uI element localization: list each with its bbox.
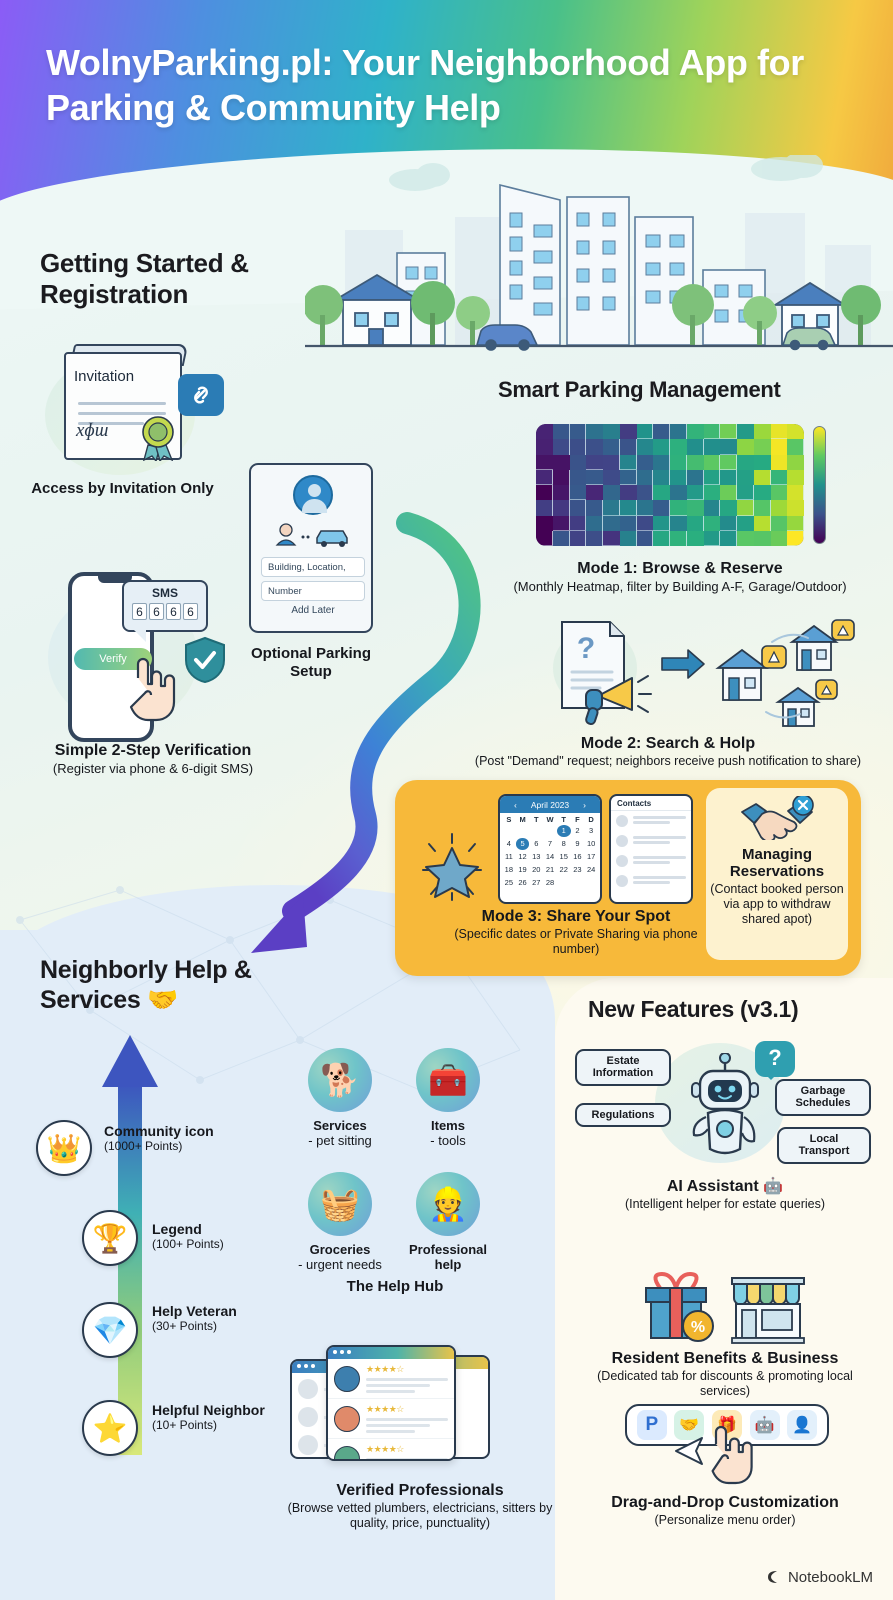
house-notify-icon: [778, 680, 837, 726]
professional-row[interactable]: ★★★★☆: [328, 1359, 454, 1399]
calendar-dow: M: [516, 815, 530, 824]
arrow-right-icon: [662, 650, 704, 678]
heatmap-cell[interactable]: [620, 455, 637, 470]
badge-community-icon: 👑: [36, 1120, 92, 1176]
heatmap-cell[interactable]: [737, 516, 754, 531]
heatmap-cell[interactable]: [737, 424, 754, 439]
heatmap-cell[interactable]: [653, 500, 670, 515]
calendar-day[interactable]: 24: [584, 864, 598, 876]
calendar-day[interactable]: 23: [571, 864, 585, 876]
heatmap-cell[interactable]: [620, 485, 637, 500]
heatmap-cell[interactable]: [771, 439, 788, 454]
heatmap-cell[interactable]: [553, 516, 570, 531]
heatmap-cell[interactable]: [570, 470, 587, 485]
ai-bubble-local-transport[interactable]: Local Transport: [777, 1127, 871, 1164]
heatmap-cell[interactable]: [771, 455, 788, 470]
ai-assistant-illustration: Estate Information Regulations Garbage S…: [575, 1035, 875, 1170]
managing-sub: (Contact booked person via app to withdr…: [710, 882, 844, 927]
heatmap-cell[interactable]: [754, 455, 771, 470]
heatmap-cell[interactable]: [704, 485, 721, 500]
heatmap-cell[interactable]: [754, 500, 771, 515]
heatmap-cell[interactable]: [670, 470, 687, 485]
heatmap-cell[interactable]: [586, 531, 603, 546]
calendar-blank: [529, 825, 543, 837]
infographic-page: WolnyParking.pl: Your Neighborhood App f…: [0, 0, 893, 1600]
heatmap-cell[interactable]: [720, 470, 737, 485]
heatmap-cell[interactable]: [553, 470, 570, 485]
badge-title: Help Veteran: [152, 1303, 272, 1319]
heatmap-cell[interactable]: [603, 470, 620, 485]
heatmap-cell[interactable]: [771, 485, 788, 500]
caption-help-hub: The Help Hub: [300, 1278, 490, 1296]
professional-meta: ★★★★☆: [366, 1364, 448, 1393]
heatmap-cell[interactable]: [720, 485, 737, 500]
badge-label-helpful: Helpful Neighbor (10+ Points): [152, 1402, 272, 1432]
heatmap-cell[interactable]: [553, 531, 570, 546]
heatmap-cell[interactable]: [787, 455, 804, 470]
house-notify-icon: [792, 620, 854, 670]
help-hub-label: Services: [313, 1118, 367, 1133]
rating-stars: ★★★★☆: [366, 1404, 448, 1415]
window-dots: [297, 1364, 315, 1368]
heatmap-cell[interactable]: [603, 531, 620, 546]
heatmap-cell[interactable]: [637, 455, 654, 470]
heatmap-cell[interactable]: [687, 455, 704, 470]
heatmap-cell[interactable]: [586, 485, 603, 500]
calendar-day[interactable]: 2: [571, 825, 585, 837]
heatmap-cell[interactable]: [637, 485, 654, 500]
heatmap-cell[interactable]: [653, 516, 670, 531]
heatmap-cell[interactable]: [586, 455, 603, 470]
heatmap-cell[interactable]: [704, 439, 721, 454]
heatmap-cell[interactable]: [536, 516, 553, 531]
calendar-blank: [543, 825, 557, 837]
calendar-day-grid[interactable]: 1234567891011121314151617181920212223242…: [500, 824, 600, 890]
caption-ai-sub: (Intelligent helper for estate queries): [570, 1197, 880, 1212]
professional-row[interactable]: ★★★★☆: [328, 1399, 454, 1439]
heatmap-cell[interactable]: [536, 424, 553, 439]
link-icon: [188, 382, 214, 408]
calendar-day[interactable]: 20: [529, 864, 543, 876]
heatmap-cell[interactable]: [670, 531, 687, 546]
contact-lines: [633, 816, 686, 826]
rating-stars: ★★★★☆: [366, 1444, 448, 1455]
caption-dragdrop-sub: (Personalize menu order): [572, 1513, 878, 1528]
sms-digit: 6: [132, 603, 147, 620]
heatmap-cell[interactable]: [536, 500, 553, 515]
badge-points: (1000+ Points): [104, 1139, 224, 1153]
calendar-header: ‹ April 2023 ›: [500, 796, 600, 813]
heatmap-cell[interactable]: [737, 455, 754, 470]
heatmap-cell[interactable]: [586, 439, 603, 454]
calendar-prev-button[interactable]: ‹: [514, 800, 517, 810]
heatmap-cell[interactable]: [737, 439, 754, 454]
heatmap-cell[interactable]: [670, 485, 687, 500]
heatmap-cell[interactable]: [754, 439, 771, 454]
heatmap-cell[interactable]: [620, 500, 637, 515]
heatmap-cell[interactable]: [704, 455, 721, 470]
caption-benefits-sub: (Dedicated tab for discounts & promoting…: [572, 1369, 878, 1399]
basket-icon: 🧺: [320, 1185, 360, 1223]
help-hub-icon-professional[interactable]: 👷: [416, 1172, 480, 1236]
calendar-day[interactable]: 1: [557, 825, 571, 837]
award-seal-icon: [138, 415, 178, 461]
sparkle-star-icon: [417, 832, 487, 902]
caption-mode2-sub: (Post "Demand" request; neighbors receiv…: [448, 754, 888, 769]
help-hub-label: Professional: [409, 1242, 487, 1257]
heatmap-cell[interactable]: [637, 470, 654, 485]
heatmap-cell[interactable]: [737, 531, 754, 546]
heatmap-cell[interactable]: [754, 516, 771, 531]
badge-title: Community icon: [104, 1123, 224, 1139]
heatmap-cell[interactable]: [704, 531, 721, 546]
heatmap-cell[interactable]: [536, 455, 553, 470]
invitation-card-title: Invitation: [74, 368, 174, 385]
calendar-day[interactable]: 22: [557, 864, 571, 876]
hand-pointer-icon: [700, 1420, 758, 1486]
contacts-title: Contacts: [611, 796, 691, 811]
caption-mode3: Mode 3: Share Your Spot (Specific dates …: [440, 908, 712, 957]
heatmap-cell[interactable]: [603, 500, 620, 515]
parking-heatmap: [536, 424, 826, 546]
heatmap-cell[interactable]: [720, 531, 737, 546]
caption-mode2-title: Mode 2: Search & Holp: [448, 735, 888, 754]
calendar-day[interactable]: 10: [584, 838, 598, 850]
signature-mark: xɸɯ: [76, 420, 108, 442]
calendar-day[interactable]: 13: [529, 851, 543, 863]
badge-title: Legend: [152, 1221, 272, 1237]
heatmap-cell[interactable]: [787, 485, 804, 500]
caption-mode1-sub: (Monthly Heatmap, filter by Building A-F…: [470, 579, 890, 595]
badge-label-community: Community icon (1000+ Points): [104, 1123, 224, 1153]
heatmap-cell[interactable]: [553, 485, 570, 500]
contact-lines: [633, 836, 686, 846]
heatmap-cell[interactable]: [754, 531, 771, 546]
help-hub-icon-groceries[interactable]: 🧺: [308, 1172, 372, 1236]
heatmap-cell[interactable]: [637, 531, 654, 546]
invitation-link-badge[interactable]: [178, 374, 224, 416]
crown-icon: 👑: [47, 1132, 82, 1165]
caption-benefits: Resident Benefits & Business (Dedicated …: [572, 1350, 878, 1399]
caption-verified-title: Verified Professionals: [272, 1482, 568, 1501]
heatmap-cell[interactable]: [737, 470, 754, 485]
section-heading-smart-parking: Smart Parking Management: [498, 377, 888, 403]
caption-dragdrop: Drag-and-Drop Customization (Personalize…: [572, 1494, 878, 1528]
heatmap-cell[interactable]: [670, 455, 687, 470]
heatmap-grid[interactable]: [536, 424, 804, 546]
caption-mode3-sub: (Specific dates or Private Sharing via p…: [440, 927, 712, 957]
heatmap-cell[interactable]: [737, 485, 754, 500]
worker-icon: 👷: [428, 1185, 468, 1223]
contact-row[interactable]: [611, 831, 691, 851]
calendar-day[interactable]: 11: [502, 851, 516, 863]
calendar-next-button[interactable]: ›: [583, 800, 586, 810]
heatmap-cell[interactable]: [536, 470, 553, 485]
heatmap-cell[interactable]: [570, 424, 587, 439]
question-bubble: ?: [755, 1041, 795, 1077]
calendar-day[interactable]: 15: [557, 851, 571, 863]
heatmap-cell[interactable]: [787, 500, 804, 515]
heatmap-cell[interactable]: [603, 516, 620, 531]
help-hub-sub: - urgent needs: [298, 1257, 382, 1272]
calendar-day[interactable]: 19: [516, 864, 530, 876]
percent-badge-icon: %: [683, 1311, 713, 1341]
handshake-icon: 🤝: [147, 986, 178, 1014]
avatar: [334, 1446, 360, 1462]
calendar-blank: [516, 825, 530, 837]
heatmap-cell[interactable]: [720, 500, 737, 515]
heatmap-cell[interactable]: [620, 439, 637, 454]
heatmap-cell[interactable]: [771, 424, 788, 439]
robot-icon: [690, 1053, 760, 1159]
heatmap-cell[interactable]: [704, 500, 721, 515]
heatmap-cell[interactable]: [603, 455, 620, 470]
heatmap-cell[interactable]: [570, 500, 587, 515]
notebooklm-watermark: NotebookLM: [764, 1568, 873, 1586]
calendar-day[interactable]: 7: [543, 838, 557, 850]
heatmap-cell[interactable]: [771, 516, 788, 531]
badge-legend-icon: 🏆: [82, 1210, 138, 1266]
heatmap-cell[interactable]: [653, 485, 670, 500]
heatmap-cell[interactable]: [687, 424, 704, 439]
heatmap-cell[interactable]: [553, 424, 570, 439]
heatmap-cell[interactable]: [653, 531, 670, 546]
contact-row[interactable]: [611, 811, 691, 831]
heatmap-cell[interactable]: [787, 531, 804, 546]
heatmap-cell[interactable]: [687, 470, 704, 485]
heatmap-cell[interactable]: [737, 500, 754, 515]
avatar: [616, 815, 628, 827]
heatmap-cell[interactable]: [687, 500, 704, 515]
calendar-dow-row: SMTWTFD: [500, 813, 600, 824]
managing-title: Managing Reservations: [710, 846, 844, 880]
help-hub-icon-items[interactable]: 🧰: [416, 1048, 480, 1112]
help-hub-label-items: Items - tools: [398, 1118, 498, 1149]
heatmap-cell[interactable]: [720, 439, 737, 454]
heatmap-cell[interactable]: [570, 485, 587, 500]
help-hub-title: The Help Hub: [300, 1278, 490, 1296]
heatmap-cell[interactable]: [586, 470, 603, 485]
heatmap-cell[interactable]: [771, 500, 788, 515]
help-hub-sub: - pet sitting: [308, 1133, 372, 1148]
heatmap-cell[interactable]: [620, 424, 637, 439]
ai-bubble-regulations[interactable]: Regulations: [575, 1103, 671, 1127]
heatmap-cell[interactable]: [720, 516, 737, 531]
heatmap-cell[interactable]: [771, 470, 788, 485]
heatmap-cell[interactable]: [787, 424, 804, 439]
heatmap-cell[interactable]: [720, 424, 737, 439]
caption-verified-sub: (Browse vetted plumbers, electricians, s…: [272, 1501, 568, 1531]
calendar-day[interactable]: 27: [529, 877, 543, 889]
page-title: WolnyParking.pl: Your Neighborhood App f…: [46, 40, 846, 131]
contacts-panel[interactable]: Contacts: [609, 794, 693, 904]
heatmap-cell[interactable]: [670, 424, 687, 439]
heatmap-cell[interactable]: [553, 439, 570, 454]
caption-verified: Verified Professionals (Browse vetted pl…: [272, 1482, 568, 1531]
heatmap-cell[interactable]: [653, 439, 670, 454]
heatmap-cell[interactable]: [687, 516, 704, 531]
trophy-icon: 🏆: [93, 1222, 128, 1255]
heatmap-cell[interactable]: [620, 470, 637, 485]
heatmap-cell[interactable]: [653, 470, 670, 485]
vp-card-titlebar: [328, 1347, 454, 1359]
heatmap-cell[interactable]: [720, 455, 737, 470]
notebooklm-label: NotebookLM: [788, 1569, 873, 1586]
caption-mode1-title: Mode 1: Browse & Reserve: [470, 560, 890, 579]
calendar-dow: S: [502, 815, 516, 824]
calendar-dow: F: [571, 815, 585, 824]
gift-icon: %: [640, 1272, 716, 1344]
heatmap-cell[interactable]: [754, 470, 771, 485]
dog-icon: 🐕: [320, 1061, 360, 1099]
heatmap-cell[interactable]: [670, 439, 687, 454]
calendar-day[interactable]: 26: [516, 877, 530, 889]
help-hub-icon-services[interactable]: 🐕: [308, 1048, 372, 1112]
heatmap-cell[interactable]: [603, 485, 620, 500]
heatmap-cell[interactable]: [670, 500, 687, 515]
heatmap-cell[interactable]: [704, 424, 721, 439]
toolbox-icon: 🧰: [428, 1061, 468, 1099]
sms-digit: 6: [149, 603, 164, 620]
badge-veteran-icon: 💎: [82, 1302, 138, 1358]
professional-row[interactable]: ★★★★☆: [328, 1439, 454, 1461]
avatar: [334, 1366, 360, 1392]
calendar-day[interactable]: 12: [516, 851, 530, 863]
ai-bubble-garbage-schedules[interactable]: Garbage Schedules: [775, 1079, 871, 1116]
heatmap-cell[interactable]: [570, 455, 587, 470]
heatmap-cell[interactable]: [586, 500, 603, 515]
heatmap-cell[interactable]: [570, 439, 587, 454]
heatmap-cell[interactable]: [653, 424, 670, 439]
svg-text:%: %: [691, 1319, 705, 1336]
contacts-list[interactable]: [611, 811, 691, 891]
star-icon: ⭐: [93, 1412, 128, 1445]
heatmap-cell[interactable]: [637, 516, 654, 531]
badge-points: (30+ Points): [152, 1319, 272, 1333]
heatmap-cell[interactable]: [754, 424, 771, 439]
badge-points: (100+ Points): [152, 1237, 272, 1251]
heatmap-cell[interactable]: [787, 470, 804, 485]
heatmap-cell[interactable]: [570, 531, 587, 546]
calendar-day[interactable]: 18: [502, 864, 516, 876]
heatmap-cell[interactable]: [620, 516, 637, 531]
help-hub-label-professional: Professional help: [398, 1242, 498, 1273]
menu-item-person[interactable]: 👤: [787, 1410, 817, 1440]
caption-mode2: Mode 2: Search & Holp (Post "Demand" req…: [448, 735, 888, 769]
heatmap-cell[interactable]: [586, 516, 603, 531]
heatmap-cell[interactable]: [536, 485, 553, 500]
window-dots: [333, 1350, 351, 1354]
heatmap-cell[interactable]: [620, 531, 637, 546]
calendar-dow: D: [584, 815, 598, 824]
heatmap-cell[interactable]: [536, 439, 553, 454]
professional-meta: ★★★★☆: [366, 1404, 448, 1433]
contact-row[interactable]: [611, 851, 691, 871]
heatmap-cell[interactable]: [603, 439, 620, 454]
calendar-month-label: April 2023: [531, 800, 569, 810]
calendar-day[interactable]: 28: [543, 877, 557, 889]
calendar-day[interactable]: 21: [543, 864, 557, 876]
vp-card-front[interactable]: ★★★★☆★★★★☆★★★★☆: [326, 1345, 456, 1461]
caption-ai-title: AI Assistant 🤖: [570, 1178, 880, 1197]
calendar-day[interactable]: 8: [557, 838, 571, 850]
avatar: [616, 875, 628, 887]
heatmap-cell[interactable]: [603, 424, 620, 439]
svg-text:?: ?: [577, 632, 595, 665]
heatmap-cell[interactable]: [553, 500, 570, 515]
help-hub-label-services: Services - pet sitting: [290, 1118, 390, 1149]
contact-lines: [633, 856, 686, 866]
hand-pointer-icon: [118, 652, 178, 724]
heatmap-cell[interactable]: [771, 531, 788, 546]
verified-professionals-cards: ★★★★☆★★★★☆★★★★☆: [290, 1345, 490, 1465]
heatmap-cell[interactable]: [754, 485, 771, 500]
rating-stars: ★★★★☆: [366, 1364, 448, 1375]
menu-item-parking-p[interactable]: P: [637, 1410, 667, 1440]
heatmap-cell[interactable]: [670, 516, 687, 531]
heatmap-cell[interactable]: [637, 424, 654, 439]
caption-mode3-title: Mode 3: Share Your Spot: [440, 908, 712, 927]
avatar: [616, 835, 628, 847]
calendar-day[interactable]: 14: [543, 851, 557, 863]
heatmap-cell[interactable]: [536, 531, 553, 546]
contact-lines: [633, 876, 686, 886]
calendar-day[interactable]: 5: [516, 838, 530, 850]
badge-label-legend: Legend (100+ Points): [152, 1221, 272, 1251]
calendar-day[interactable]: 16: [571, 851, 585, 863]
heatmap-colorbar: [813, 426, 826, 544]
calendar-dow: T: [557, 815, 571, 824]
calendar-day[interactable]: 9: [571, 838, 585, 850]
heatmap-cell[interactable]: [687, 439, 704, 454]
cursor-arrow-icon: [672, 1434, 708, 1468]
heatmap-cell[interactable]: [570, 516, 587, 531]
help-hub-sub: - tools: [430, 1133, 465, 1148]
heatmap-cell[interactable]: [653, 455, 670, 470]
caption-ai: AI Assistant 🤖 (Intelligent helper for e…: [570, 1178, 880, 1212]
heatmap-cell[interactable]: [704, 516, 721, 531]
calendar-widget[interactable]: ‹ April 2023 › SMTWTFD 12345678910111213…: [498, 794, 602, 904]
city-skyline-illustration: [305, 155, 893, 360]
heatmap-cell[interactable]: [787, 516, 804, 531]
heatmap-cell[interactable]: [637, 500, 654, 515]
heatmap-cell[interactable]: [787, 439, 804, 454]
heatmap-cell[interactable]: [704, 470, 721, 485]
managing-reservations-card: Managing Reservations (Contact booked pe…: [706, 788, 848, 960]
handshake-cancel-icon: [738, 796, 816, 840]
heatmap-cell[interactable]: [553, 455, 570, 470]
ai-bubble-estate-information[interactable]: Estate Information: [575, 1049, 671, 1086]
calendar-day[interactable]: 17: [584, 851, 598, 863]
vp-row-list[interactable]: ★★★★☆★★★★☆★★★★☆: [328, 1359, 454, 1461]
heatmap-cell[interactable]: [687, 531, 704, 546]
mode2-illustration: ?: [540, 616, 860, 728]
help-hub-label-groceries: Groceries - urgent needs: [290, 1242, 390, 1273]
sms-digit: 6: [166, 603, 181, 620]
heatmap-cell[interactable]: [586, 424, 603, 439]
heatmap-cell[interactable]: [637, 439, 654, 454]
calendar-day[interactable]: 25: [502, 877, 516, 889]
help-hub-label: Groceries: [310, 1242, 371, 1257]
calendar-day[interactable]: 3: [584, 825, 598, 837]
house-notify-icon: [718, 646, 786, 700]
caption-dragdrop-title: Drag-and-Drop Customization: [572, 1494, 878, 1513]
diamond-icon: 💎: [93, 1314, 128, 1347]
calendar-day[interactable]: 4: [502, 838, 516, 850]
calendar-day[interactable]: 6: [529, 838, 543, 850]
contact-row[interactable]: [611, 871, 691, 891]
heatmap-cell[interactable]: [687, 485, 704, 500]
